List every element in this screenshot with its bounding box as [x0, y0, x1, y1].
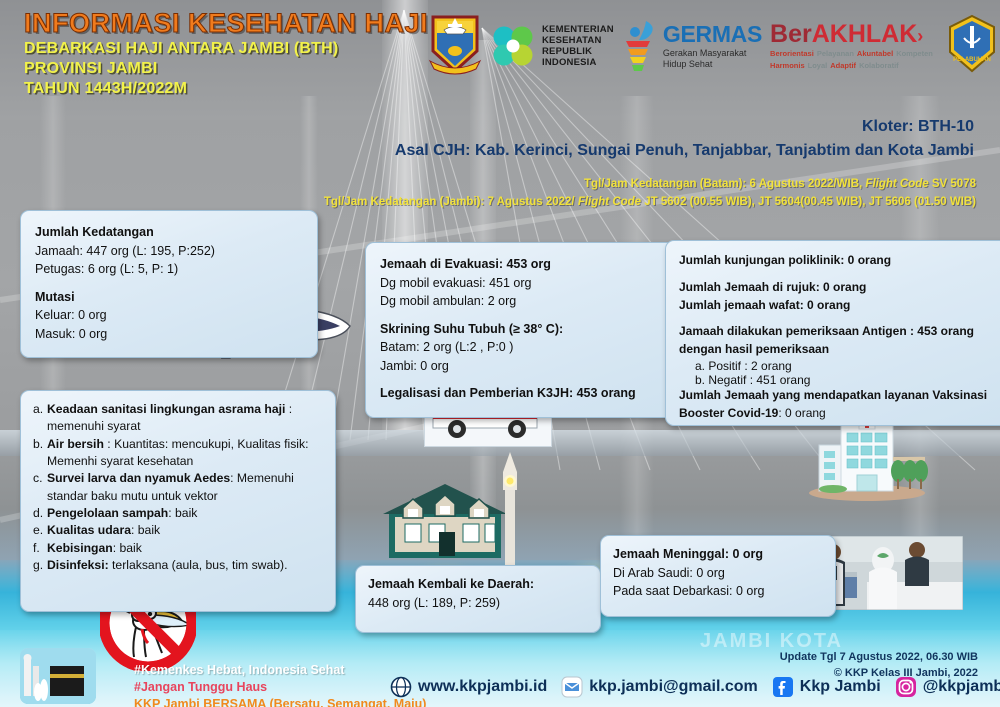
hashtag-block: #Kemenkes Hebat, Indonesia Sehat #Jangan…: [134, 662, 426, 707]
infographic-canvas: JAMBI KOTA INFORMASI KESEHATAN HAJI DEBA…: [0, 0, 1000, 707]
sanitasi-item: b.Air bersih : Kuantitas: mencukupi, Kua…: [33, 436, 323, 453]
sanitasi-item-marker: g.: [33, 557, 47, 574]
sanitasi-item-value: : baik: [168, 506, 197, 520]
germas-tagline-1: Gerakan Masyarakat: [663, 48, 762, 59]
screening-jambi: Jambi: 0 org: [380, 357, 660, 376]
sanitasi-item-text: Keadaan sanitasi lingkungan asrama haji …: [47, 401, 292, 418]
kemenkes-logo: KEMENTERIANKESEHATANREPUBLIKINDONESIA: [490, 23, 614, 69]
return-title: Jemaah Kembali ke Daerah:: [368, 575, 588, 594]
sanitasi-item-text: Disinfeksi: terlaksana (aula, bus, tim s…: [47, 557, 287, 574]
hashtag-kkp-bersama: KKP Jambi BERSAMA (Bersatu, Semangat, Ma…: [134, 696, 426, 707]
instagram-icon: [895, 676, 917, 698]
sanitasi-item-value: : baik: [113, 541, 142, 555]
sanitasi-item-text: Kualitas udara: baik: [47, 522, 160, 539]
hashtag-jangan-tunggu-haus: #Jangan Tunggu Haus: [134, 679, 426, 696]
jambi-province-emblem: [428, 13, 482, 80]
sanitasi-item-marker: f.: [33, 540, 47, 557]
evacuation-ambulance: Dg mobil ambulan: 2 org: [380, 292, 660, 311]
flight-batam: Tgl/Jam Kedatangan (Batam): 6 Agustus 20…: [584, 178, 976, 190]
sanitasi-item-label: Survei larva dan nyamuk Aedes: [47, 471, 230, 485]
card-poliklinik: Jumlah kunjungan poliklinik: 0 orang Jum…: [665, 240, 1000, 426]
legalisasi-k3jh: Legalisasi dan Pemberian K3JH: 453 orang: [380, 384, 660, 403]
globe-icon: [390, 676, 412, 698]
sanitasi-item-label: Kebisingan: [47, 541, 113, 555]
germas-logo: GERMAS Gerakan Masyarakat Hidup Sehat: [622, 19, 762, 73]
clinic-visits: Jumlah kunjungan poliklinik: 0 orang: [679, 252, 997, 270]
kloter-origin: Asal CJH: Kab. Kerinci, Sungai Penuh, Ta…: [395, 142, 974, 160]
berakhlak-values: BerorientasiPelayanan AkuntabelKompeten …: [770, 49, 938, 70]
booster-line1: Jumlah Jemaah yang mendapatkan layanan V…: [679, 387, 997, 405]
return-value: 448 org (L: 189, P: 259): [368, 594, 588, 613]
sanitasi-item-text: Kebisingan: baik: [47, 540, 142, 557]
sanitasi-item: f.Kebisingan: baik: [33, 540, 323, 557]
instagram-label: @kkpjambi: [923, 678, 1000, 696]
antigen-positive: a. Positif : 2 orang: [679, 359, 997, 373]
facebook-icon: [772, 676, 794, 698]
antigen-negative: b. Negatif : 451 orang: [679, 373, 997, 387]
mutasi-masuk: Masuk: 0 org: [35, 325, 303, 344]
page-title: INFORMASI KESEHATAN HAJI: [24, 8, 428, 39]
death-title: Jemaah Meninggal: 0 org: [613, 545, 823, 564]
mutasi-keluar: Keluar: 0 org: [35, 306, 303, 325]
clock-tower-illustration: [497, 450, 523, 580]
house-illustration: [375, 470, 515, 560]
sanitasi-item-value: terlaksana (aula, bus, tim swab).: [109, 558, 288, 572]
flight-jambi-codes: JT 5602 (00.55 WIB), JT 5604(00.45 WIB),…: [641, 196, 976, 208]
clinic-deaths: Jumlah jemaah wafat: 0 orang: [679, 297, 997, 315]
card-jumlah-kedatangan: Jumlah Kedatangan Jamaah: 447 org (L: 19…: [20, 210, 318, 358]
website-link[interactable]: www.kkpjambi.id: [390, 676, 547, 698]
sanitasi-item-marker: a.: [33, 401, 47, 418]
sanitasi-item-label: Disinfeksi:: [47, 558, 109, 572]
berakhlak-wordmark: BerAKHLAK›: [770, 22, 938, 47]
germas-tagline-2: Hidup Sehat: [663, 59, 762, 70]
sanitasi-item-value: :: [285, 402, 292, 416]
death-arab-saudi: Di Arab Saudi: 0 org: [613, 564, 823, 583]
email-label: kkp.jambi@gmail.com: [589, 678, 758, 696]
antigen-line2: dengan hasil pemeriksaan: [679, 341, 997, 359]
logo-strip: KEMENTERIANKESEHATANREPUBLIKINDONESIA GE…: [428, 4, 994, 88]
flight-code-label: Flight Code: [578, 196, 641, 208]
sanitasi-item-marker: c.: [33, 470, 47, 487]
subtitle-provinsi: PROVINSI JAMBI: [24, 60, 158, 78]
flight-jambi-prefix: Tgl/Jam Kedatangan (Jambi): 7 Agustus 20…: [324, 196, 578, 208]
sanitasi-item-continuation: standar baku mutu untuk vektor: [33, 488, 323, 505]
header-banner: INFORMASI KESEHATAN HAJI DEBARKASI HAJI …: [0, 0, 1000, 96]
screening-batam: Batam: 2 org (L:2 , P:0 ): [380, 338, 660, 357]
sanitasi-item-marker: d.: [33, 505, 47, 522]
evacuation-car: Dg mobil evakuasi: 451 org: [380, 274, 660, 293]
kemenkes-label: KEMENTERIANKESEHATANREPUBLIKINDONESIA: [542, 24, 614, 69]
sanitasi-item-continuation: memenuhi syarat: [33, 418, 323, 435]
sanitasi-item: d.Pengelolaan sampah: baik: [33, 505, 323, 522]
sanitasi-list: a.Keadaan sanitasi lingkungan asrama haj…: [33, 401, 323, 574]
sanitasi-item: a.Keadaan sanitasi lingkungan asrama haj…: [33, 401, 323, 418]
card-sanitasi: a.Keadaan sanitasi lingkungan asrama haj…: [20, 390, 336, 612]
sanitasi-item-text: Air bersih : Kuantitas: mencukupi, Kuali…: [47, 436, 308, 453]
pelabuhan-logo: PELABUHAN: [946, 14, 998, 79]
instagram-link[interactable]: @kkpjambi: [895, 676, 1000, 698]
booster-line2: Booster Covid-19: 0 orang: [679, 405, 997, 423]
card-evakuasi: Jemaah di Evakuasi: 453 org Dg mobil eva…: [365, 242, 675, 418]
sanitasi-item-label: Air bersih: [47, 437, 104, 451]
sanitasi-item-value: : Memenuhi: [230, 471, 294, 485]
antigen-line1: Jamaah dilakukan pemeriksaan Antigen : 4…: [679, 323, 997, 341]
flight-batam-code: SV 5078: [929, 178, 976, 190]
sanitasi-item-value: : baik: [131, 523, 160, 537]
arrival-petugas: Petugas: 6 org (L: 5, P: 1): [35, 260, 303, 279]
sanitasi-item-label: Kualitas udara: [47, 523, 131, 537]
hashtag-kemenkes: #Kemenkes Hebat, Indonesia Sehat: [134, 662, 426, 679]
social-media-bar: www.kkpjambi.id kkp.jambi@gmail.com Kkp …: [390, 676, 1000, 698]
sanitasi-item: e.Kualitas udara: baik: [33, 522, 323, 539]
subtitle-tahun: TAHUN 1443H/2022M: [24, 80, 187, 98]
sanitasi-item-marker: b.: [33, 436, 47, 453]
clinic-referrals: Jumlah Jemaah di rujuk: 0 orang: [679, 279, 997, 297]
arrival-title: Jumlah Kedatangan: [35, 223, 303, 242]
email-link[interactable]: kkp.jambi@gmail.com: [561, 676, 758, 698]
sanitasi-item-value: : Kuantitas: mencukupi, Kualitas fisik:: [104, 437, 309, 451]
flight-batam-prefix: Tgl/Jam Kedatangan (Batam): 6 Agustus 20…: [584, 178, 865, 190]
website-label: www.kkpjambi.id: [418, 678, 547, 696]
germas-wordmark: GERMAS: [663, 23, 762, 46]
screening-title: Skrining Suhu Tubuh (≥ 38° C):: [380, 320, 660, 339]
kaaba-photo: [20, 648, 96, 704]
sanitasi-item-text: Survei larva dan nyamuk Aedes: Memenuhi: [47, 470, 294, 487]
sanitasi-item-label: Keadaan sanitasi lingkungan asrama haji: [47, 402, 285, 416]
update-timestamp: Update Tgl 7 Agustus 2022, 06.30 WIB: [780, 650, 978, 666]
svg-text:PELABUHAN: PELABUHAN: [953, 57, 991, 63]
flight-jambi: Tgl/Jam Kedatangan (Jambi): 7 Agustus 20…: [324, 196, 976, 208]
facebook-label: Kkp Jambi: [800, 678, 881, 696]
booster-value: : 0 orang: [778, 406, 825, 420]
facebook-link[interactable]: Kkp Jambi: [772, 676, 881, 698]
mutasi-title: Mutasi: [35, 288, 303, 307]
kloter-code: Kloter: BTH-10: [395, 118, 974, 136]
sanitasi-item-label: Pengelolaan sampah: [47, 506, 168, 520]
sanitasi-item-continuation: Memenhi syarat kesehatan: [33, 453, 323, 470]
arrival-jamaah: Jamaah: 447 org (L: 195, P:252): [35, 242, 303, 261]
sanitasi-item: c.Survei larva dan nyamuk Aedes: Memenuh…: [33, 470, 323, 487]
berakhlak-logo: BerAKHLAK› BerorientasiPelayanan Akuntab…: [770, 22, 938, 70]
sanitasi-item: g.Disinfeksi: terlaksana (aula, bus, tim…: [33, 557, 323, 574]
evacuation-title: Jemaah di Evakuasi: 453 org: [380, 255, 660, 274]
card-kembali-ke-daerah: Jemaah Kembali ke Daerah: 448 org (L: 18…: [355, 565, 601, 633]
death-debarkasi: Pada saat Debarkasi: 0 org: [613, 582, 823, 601]
sanitasi-item-text: Pengelolaan sampah: baik: [47, 505, 197, 522]
booster-label: Booster Covid-19: [679, 406, 778, 420]
flight-code-label: Flight Code: [865, 178, 928, 190]
card-jemaah-meninggal: Jemaah Meninggal: 0 org Di Arab Saudi: 0…: [600, 535, 836, 617]
subtitle-debarkasi: DEBARKASI HAJI ANTARA JAMBI (BTH): [24, 40, 338, 58]
email-icon: [561, 676, 583, 698]
sanitasi-item-marker: e.: [33, 522, 47, 539]
kloter-block: Kloter: BTH-10 Asal CJH: Kab. Kerinci, S…: [395, 118, 974, 160]
